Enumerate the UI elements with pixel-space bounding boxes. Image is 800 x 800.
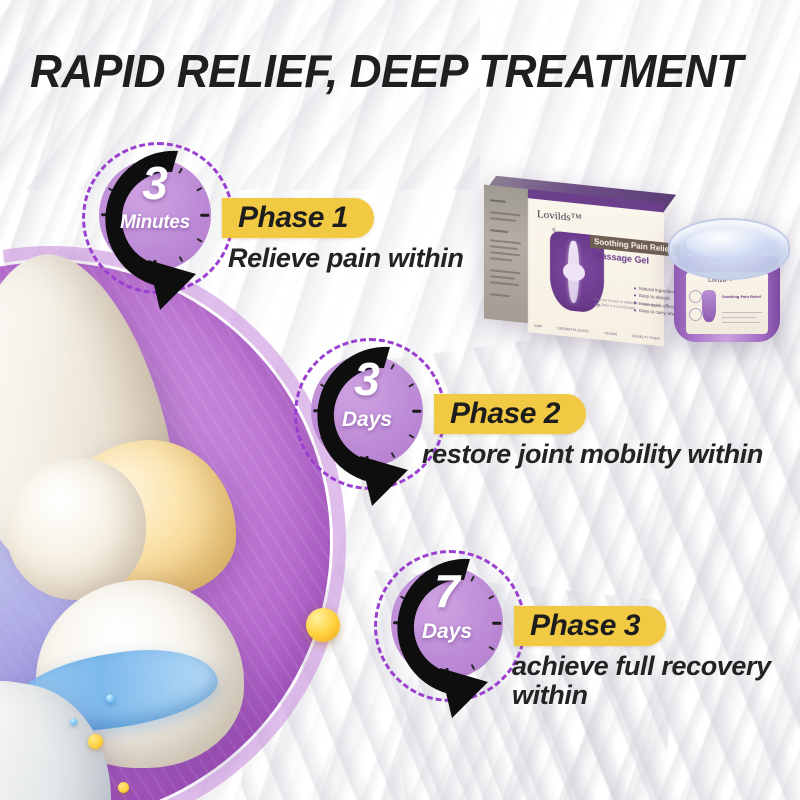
cert-badge: VEGAN (604, 331, 617, 336)
phase-3-duration-number: 7 (372, 568, 522, 614)
cert-badge: GMP (534, 324, 542, 329)
phase-3-banner: Phase 3 (514, 606, 666, 646)
jar-label: Lovilds™ Soothing Pain Relief (686, 272, 768, 334)
particle-blue (70, 718, 77, 725)
phase-1-label: Phase 1 (238, 201, 348, 235)
jar-icon-badge (689, 308, 702, 321)
phase-1-timer-badge: 3 Minutes (80, 140, 230, 290)
phase-3-timer-badge: 7 Days (372, 548, 522, 698)
phase-1-banner: Phase 1 (222, 198, 374, 238)
product-box-side-panel (484, 185, 528, 324)
jar-knee-graphic (702, 290, 716, 322)
product-box: Lovilds™ MILD FORMULA AND COMFORTABLE So… (484, 191, 664, 338)
knee-joint-illustration (0, 262, 330, 800)
phase-1-description: Relieve pain within (228, 244, 463, 273)
product-shot: Lovilds™ MILD FORMULA AND COMFORTABLE So… (480, 190, 800, 355)
phase-block-3: 7 Days Phase 3 achieve full recovery wit… (372, 548, 792, 738)
jar-icon-badge (689, 290, 702, 303)
product-box-certification-row: GMP DERMATOLOGIST VEGAN CRUELTY FREE (534, 324, 660, 341)
phase-3-label: Phase 3 (530, 609, 640, 643)
phase-3-description: achieve full recovery within (512, 652, 800, 709)
product-box-brand: Lovilds™ (537, 208, 581, 225)
phase-2-banner: Phase 2 (434, 394, 586, 434)
particle-yellow-large (306, 608, 340, 642)
phase-2-timer-badge: 3 Days (292, 336, 442, 486)
cert-badge: CRUELTY FREE (632, 334, 660, 341)
particle-yellow (88, 734, 103, 749)
phase-3-duration-unit: Days (372, 620, 522, 644)
phase-2-duration-unit: Days (292, 408, 442, 432)
jar-lid (668, 218, 790, 280)
phase-block-2: 3 Days Phase 2 restore joint mobility wi… (292, 336, 792, 506)
cert-badge: DERMATOLOGIST (557, 326, 589, 333)
phase-2-description: restore joint mobility within (422, 440, 763, 469)
product-jar: Lovilds™ Soothing Pain Relief (668, 218, 786, 346)
phase-1-duration-unit: Minutes (80, 212, 230, 234)
promo-poster: RAPID RELIEF, DEEP TREATMENT (0, 0, 800, 800)
phase-1-duration-number: 3 (80, 160, 230, 206)
femur-condyle (6, 458, 146, 600)
particle-yellow (118, 782, 129, 793)
product-box-front-panel: Lovilds™ MILD FORMULA AND COMFORTABLE So… (528, 189, 664, 346)
page-title: RAPID RELIEF, DEEP TREATMENT (30, 44, 760, 98)
phase-2-duration-number: 3 (292, 356, 442, 402)
phase-2-label: Phase 2 (450, 397, 560, 431)
jar-title: Soothing Pain Relief (722, 294, 761, 300)
particle-blue (106, 694, 115, 703)
